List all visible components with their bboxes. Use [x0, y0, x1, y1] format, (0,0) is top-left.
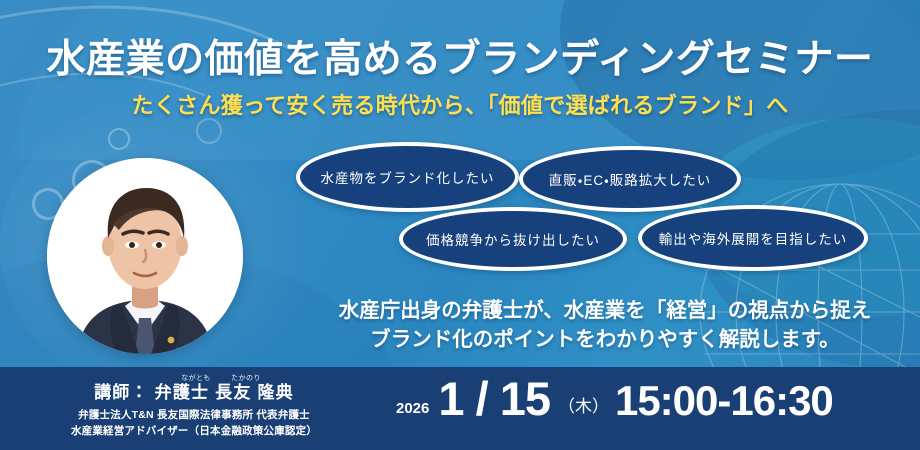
bubble-label: 価格競争から抜け出したい [426, 229, 600, 249]
bubble-sales-channel: 直販・EC・販路拡大したい [519, 146, 741, 212]
event-time: 15:00-16:30 [615, 380, 833, 422]
bubble-label: 輸出や海外展開を目指したい [659, 228, 848, 248]
bubble-label: 直販・EC・販路拡大したい [549, 169, 711, 189]
speaker-affiliation-2: 水産業経営アドバイザー（日本金融政策公庫認定） [0, 424, 388, 440]
bubble-export: 輸出や海外展開を目指したい [638, 205, 868, 271]
speaker-name: 講師： 弁護士 長友 隆典 [94, 384, 294, 402]
furigana-given: たかのり [231, 373, 261, 383]
speaker-affiliation-1: 弁護士法人T&N 長友国際法律事務所 代表弁護士 [0, 408, 388, 424]
event-year: 2026 [396, 400, 429, 417]
decorative-circle-4 [196, 118, 222, 144]
seminar-banner: 水産業の価値を高めるブランディングセミナー たくさん獲って安く売る時代から、「価… [0, 0, 920, 450]
decorative-circle-3 [108, 128, 130, 150]
bubble-price-competition: 価格競争から抜け出したい [399, 207, 627, 271]
event-day-of-week: （木） [558, 392, 609, 417]
bubble-brand: 水産物をブランド化したい [296, 142, 519, 212]
footer-bar: ながとも たかのり 講師： 弁護士 長友 隆典 弁護士法人T&N 長友国際法律事… [0, 367, 920, 450]
furigana-family: ながとも [181, 373, 211, 383]
banner-subtitle: たくさん獲って安く売る時代から、「価値で選ばれるブランド」へ [0, 88, 920, 120]
description-line-1: 水産庁出身の弁護士が、水産業を「経営」の視点から捉え [300, 296, 910, 325]
event-datetime: 2026 1 / 15 （木） 15:00-16:30 [396, 375, 912, 441]
event-date: 1 / 15 [438, 375, 550, 422]
speaker-info: ながとも たかのり 講師： 弁護士 長友 隆典 弁護士法人T&N 長友国際法律事… [0, 373, 388, 440]
bubble-label: 水産物をブランド化したい [321, 167, 495, 187]
speaker-portrait [47, 158, 243, 354]
speaker-name-furigana: ながとも たかのり [0, 373, 388, 383]
description-block: 水産庁出身の弁護士が、水産業を「経営」の視点から捉え ブランド化のポイントをわか… [300, 296, 910, 354]
description-line-2: ブランド化のポイントをわかりやすく解説します。 [300, 325, 910, 354]
banner-title: 水産業の価値を高めるブランディングセミナー [0, 28, 920, 84]
